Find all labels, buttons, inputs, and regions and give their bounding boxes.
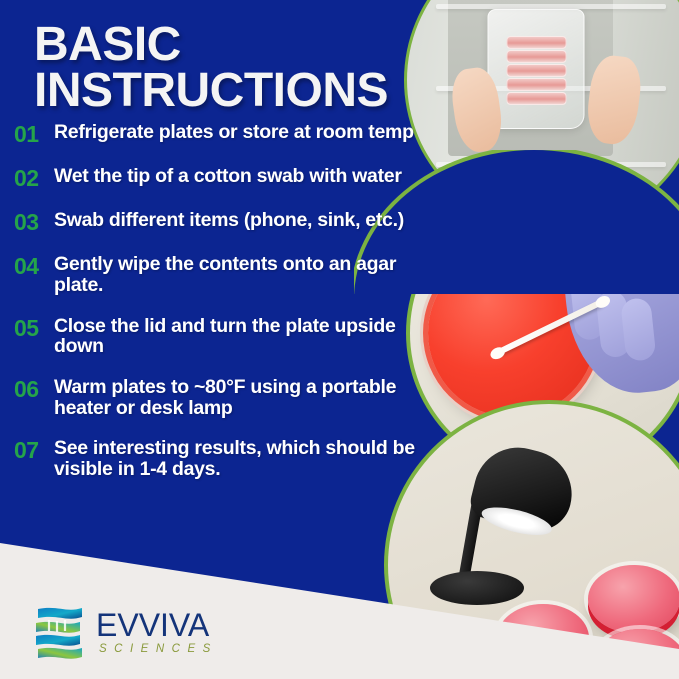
step-text: Swab different items (phone, sink, etc.): [54, 210, 422, 231]
step-item: 04 Gently wipe the contents onto an agar…: [12, 254, 422, 295]
brand-logo: EVVIVA SCIENCES: [30, 603, 218, 661]
step-item: 05 Close the lid and turn the plate upsi…: [12, 316, 422, 357]
plate-stack: [506, 36, 566, 106]
step-number: 03: [12, 210, 54, 234]
agar-plate: [506, 36, 566, 49]
step-text: Refrigerate plates or store at room temp: [54, 122, 422, 143]
lamp-shade: [467, 438, 581, 537]
step-number: 06: [12, 377, 54, 401]
step-item: 07 See interesting results, which should…: [12, 438, 422, 479]
logo-subtitle: SCIENCES: [96, 644, 218, 656]
logo-name: EVVIVA: [96, 609, 218, 641]
dna-helix-icon: [30, 603, 86, 661]
step-text: Wet the tip of a cotton swab with water: [54, 166, 422, 187]
step-text: See interesting results, which should be…: [54, 438, 422, 479]
zip-bag: [488, 9, 585, 129]
agar-plate: [506, 50, 566, 63]
steps-list: 01 Refrigerate plates or store at room t…: [12, 122, 422, 500]
instructions-poster: BASIC INSTRUCTIONS 01 Refrigerate plates…: [0, 0, 679, 679]
step-number: 02: [12, 166, 54, 190]
step-item: 02 Wet the tip of a cotton swab with wat…: [12, 166, 422, 190]
agar-plate: [506, 92, 566, 105]
step-text: Close the lid and turn the plate upside …: [54, 316, 422, 357]
photo-column: [394, 0, 679, 679]
step-number: 05: [12, 316, 54, 340]
agar-plate: [506, 78, 566, 91]
step-item: 01 Refrigerate plates or store at room t…: [12, 122, 422, 146]
step-number: 07: [12, 438, 54, 462]
fridge-shelf: [436, 4, 665, 9]
lamp-base: [430, 571, 524, 605]
step-text: Gently wipe the contents onto an agar pl…: [54, 254, 422, 295]
page-title: BASIC INSTRUCTIONS: [34, 22, 388, 114]
step-item: 06 Warm plates to ~80°F using a portable…: [12, 377, 422, 418]
agar-plate: [506, 64, 566, 77]
petri-dish: [588, 565, 679, 633]
step-number: 01: [12, 122, 54, 146]
logo-wordmark: EVVIVA SCIENCES: [96, 609, 218, 656]
step-number: 04: [12, 254, 54, 278]
step-item: 03 Swab different items (phone, sink, et…: [12, 210, 422, 234]
step-text: Warm plates to ~80°F using a portable he…: [54, 377, 422, 418]
